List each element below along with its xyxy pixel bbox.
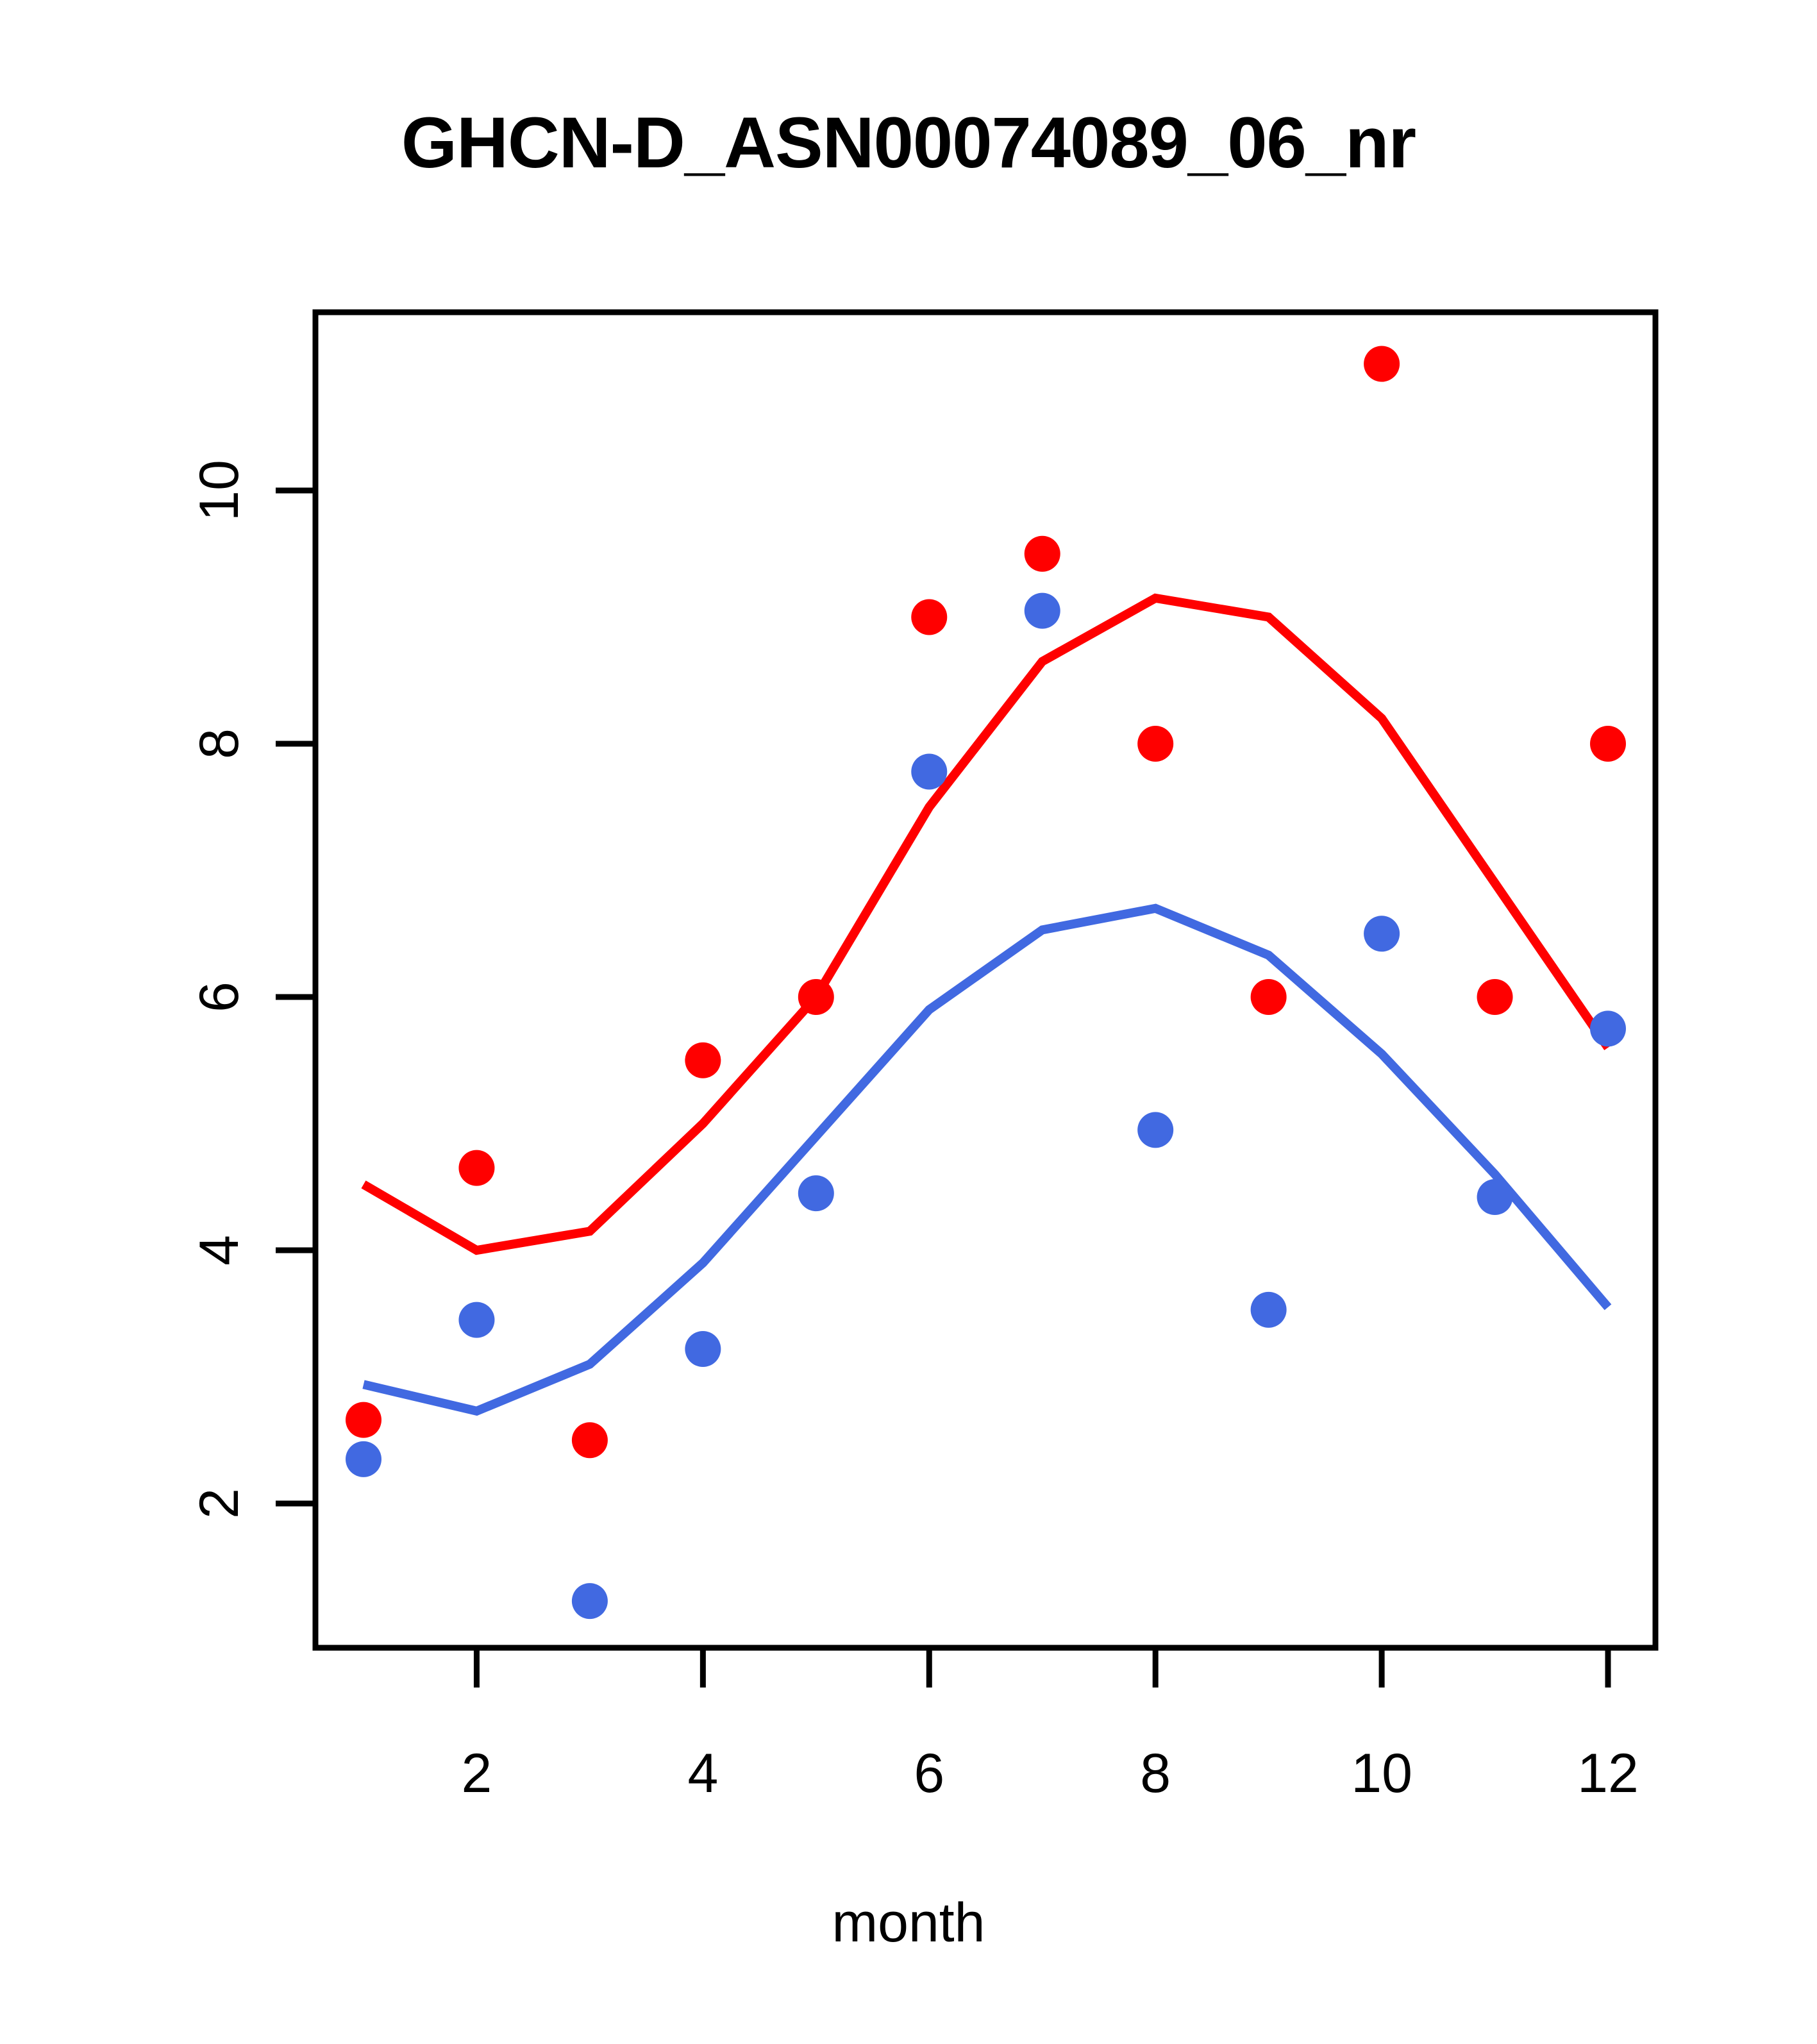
x-tick-label: 4 (687, 1743, 718, 1804)
chart-canvas: 24681012246810 (0, 0, 1817, 2044)
data-point (1137, 1112, 1173, 1148)
x-tick-label: 2 (462, 1743, 492, 1804)
x-tick-label: 8 (1140, 1743, 1171, 1804)
data-point (911, 599, 947, 635)
y-tick-label: 2 (188, 1488, 250, 1519)
data-point (572, 1583, 608, 1619)
data-points (346, 346, 1626, 1620)
x-tick-label: 6 (914, 1743, 944, 1804)
chart-page: GHCN-D_ASN00074089_06_nr 24681012246810 … (0, 0, 1817, 2044)
blue-line (364, 909, 1608, 1411)
red-line (364, 598, 1608, 1250)
data-point (1477, 1179, 1513, 1215)
axis-ticks (276, 490, 1608, 1688)
data-point (685, 1043, 721, 1078)
tick-labels: 24681012246810 (188, 460, 1639, 1804)
data-point (798, 979, 834, 1015)
data-point (1590, 1010, 1626, 1046)
y-tick-label: 6 (188, 982, 250, 1012)
x-tick-label: 12 (1577, 1743, 1639, 1804)
data-point (346, 1402, 381, 1438)
data-point (346, 1441, 381, 1477)
y-tick-label: 4 (188, 1235, 250, 1266)
data-point (1590, 726, 1626, 762)
data-point (1137, 726, 1173, 762)
data-point (572, 1422, 608, 1458)
data-point (458, 1302, 494, 1338)
x-axis-label: month (0, 1891, 1817, 1955)
data-point (1477, 979, 1513, 1015)
plot-frame (315, 312, 1655, 1648)
data-point (1025, 593, 1060, 629)
y-tick-label: 10 (188, 460, 250, 521)
data-point (458, 1150, 494, 1186)
data-point (1364, 916, 1400, 951)
data-point (911, 753, 947, 789)
data-point (685, 1331, 721, 1367)
data-point (798, 1175, 834, 1211)
x-tick-label: 10 (1351, 1743, 1412, 1804)
data-point (1364, 346, 1400, 382)
data-point (1251, 979, 1287, 1015)
plot-border (315, 312, 1655, 1648)
y-tick-label: 8 (188, 728, 250, 759)
trend-lines (364, 598, 1608, 1411)
data-point (1025, 536, 1060, 572)
data-point (1251, 1292, 1287, 1328)
